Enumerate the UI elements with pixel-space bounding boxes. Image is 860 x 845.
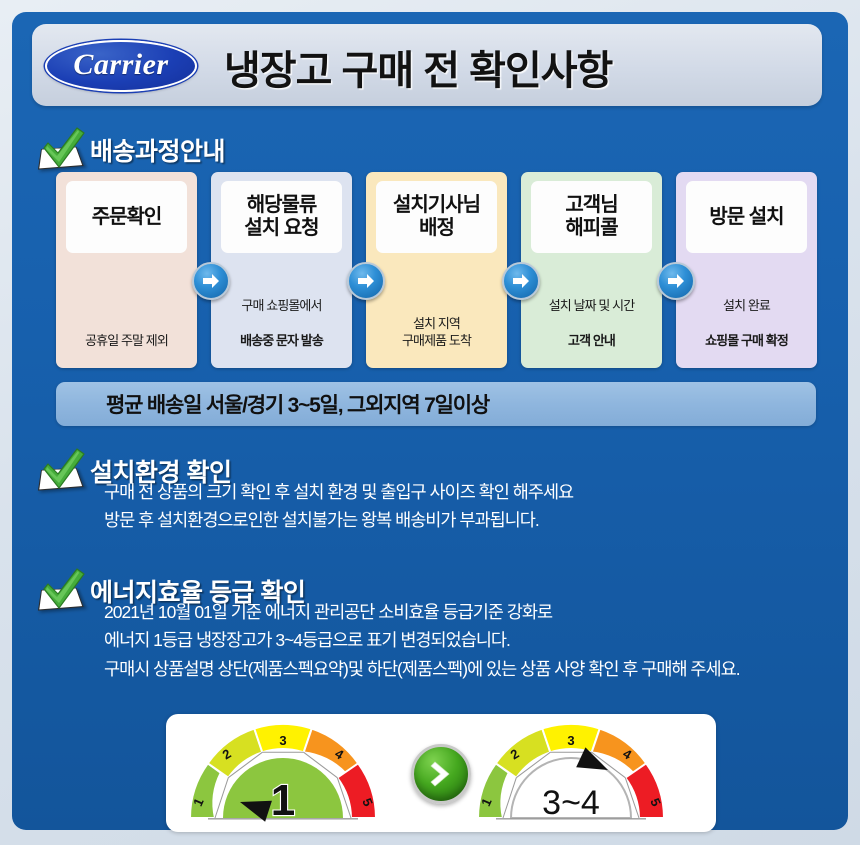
green-check-icon xyxy=(34,449,90,493)
green-check-icon xyxy=(34,128,90,172)
energy-grade-gauge-after: 1 2 3 4 5 3~4 xyxy=(466,722,676,824)
page-title: 냉장고 구매 전 확인사항 xyxy=(224,38,612,96)
step-desc: 설치 지역 구매제품 도착 xyxy=(370,297,503,350)
average-delivery-text: 평균 배송일 서울/경기 3~5일, 그외지역 7일이상 xyxy=(106,389,489,419)
delivery-step-4[interactable]: 고객님 해피콜 설치 날짜 및 시간 고객 안내 xyxy=(521,172,662,368)
step-arrow-right-icon-2 xyxy=(347,262,385,300)
delivery-steps: 주문확인 공휴일 주말 제외 해당물류 설치 요청 구매 쇼핑몰에서 배송중 문… xyxy=(56,172,816,368)
step-title-card: 설치기사님 배정 xyxy=(376,181,497,253)
step-title: 주문확인 xyxy=(92,206,162,229)
main-panel: Carrier 냉장고 구매 전 확인사항 배송과정안내 주문확인 공휴일 주말… xyxy=(12,12,848,830)
step-desc-bold: 쇼핑몰 구매 확정 xyxy=(705,333,788,348)
install-line-2: 방문 후 설치환경으로인한 설치불가는 왕복 배송비가 부과됩니다. xyxy=(104,506,573,534)
energy-line-2: 에너지 1등급 냉장장고가 3~4등급으로 표기 변경되었습니다. xyxy=(104,626,740,654)
step-arrow-right-icon-4 xyxy=(657,262,695,300)
step-desc: 설치 날짜 및 시간 고객 안내 xyxy=(525,280,658,350)
step-desc-normal: 설치 완료 xyxy=(723,298,770,313)
logo-text: Carrier xyxy=(73,48,168,84)
step-desc: 공휴일 주말 제외 xyxy=(60,315,193,350)
step-title-card: 방문 설치 xyxy=(686,181,807,253)
step-title: 고객님 해피콜 xyxy=(565,194,617,240)
energy-body: 2021년 10월 01일 기준 에너지 관리공단 소비효율 등급기준 강화로 … xyxy=(104,598,740,683)
svg-text:3: 3 xyxy=(567,733,574,748)
step-title-card: 주문확인 xyxy=(66,181,187,253)
section-heading-delivery-label: 배송과정안내 xyxy=(90,132,225,168)
step-title: 방문 설치 xyxy=(709,206,783,229)
install-body: 구매 전 상품의 크기 확인 후 설치 환경 및 출입구 사이즈 확인 해주세요… xyxy=(104,478,573,535)
step-title: 해당물류 설치 요청 xyxy=(244,194,318,240)
average-delivery-bar: 평균 배송일 서울/경기 3~5일, 그외지역 7일이상 xyxy=(56,382,816,426)
energy-gauge-panel: 1 2 3 4 5 1 xyxy=(166,714,716,832)
step-title-card: 고객님 해피콜 xyxy=(531,181,652,253)
delivery-step-5[interactable]: 방문 설치 설치 완료 쇼핑몰 구매 확정 xyxy=(676,172,817,368)
svg-text:3~4: 3~4 xyxy=(542,784,600,822)
step-desc-normal: 설치 지역 구매제품 도착 xyxy=(402,316,471,349)
step-title-card: 해당물류 설치 요청 xyxy=(221,181,342,253)
header: Carrier 냉장고 구매 전 확인사항 xyxy=(12,24,848,110)
delivery-step-1[interactable]: 주문확인 공휴일 주말 제외 xyxy=(56,172,197,368)
svg-text:3: 3 xyxy=(279,733,286,748)
energy-line-1: 2021년 10월 01일 기준 에너지 관리공단 소비효율 등급기준 강화로 xyxy=(104,598,740,626)
energy-line-3: 구매시 상품설명 상단(제품스펙요약)및 하단(제품스펙)에 있는 상품 사양 … xyxy=(104,655,740,683)
svg-text:1: 1 xyxy=(271,776,295,824)
energy-grade-gauge-before: 1 2 3 4 5 1 xyxy=(178,722,388,824)
delivery-step-3[interactable]: 설치기사님 배정 설치 지역 구매제품 도착 xyxy=(366,172,507,368)
delivery-step-2[interactable]: 해당물류 설치 요청 구매 쇼핑몰에서 배송중 문자 발송 xyxy=(211,172,352,368)
step-arrow-right-icon-1 xyxy=(192,262,230,300)
section-heading-delivery: 배송과정안내 xyxy=(34,128,225,172)
carrier-logo: Carrier xyxy=(45,40,197,92)
install-line-1: 구매 전 상품의 크기 확인 후 설치 환경 및 출입구 사이즈 확인 해주세요 xyxy=(104,478,573,506)
step-title: 설치기사님 배정 xyxy=(393,194,480,240)
step-desc-normal: 공휴일 주말 제외 xyxy=(85,333,168,348)
step-arrow-right-icon-3 xyxy=(502,262,540,300)
step-desc-normal: 설치 날짜 및 시간 xyxy=(549,298,635,313)
chevron-right-icon[interactable] xyxy=(411,744,471,804)
step-desc: 설치 완료 쇼핑몰 구매 확정 xyxy=(680,280,813,350)
step-desc-bold: 고객 안내 xyxy=(568,333,615,348)
step-desc-bold: 배송중 문자 발송 xyxy=(240,333,323,348)
step-desc: 구매 쇼핑몰에서 배송중 문자 발송 xyxy=(215,280,348,350)
step-desc-normal: 구매 쇼핑몰에서 xyxy=(241,298,321,313)
green-check-icon xyxy=(34,569,90,613)
header-banner: Carrier 냉장고 구매 전 확인사항 xyxy=(32,24,822,106)
